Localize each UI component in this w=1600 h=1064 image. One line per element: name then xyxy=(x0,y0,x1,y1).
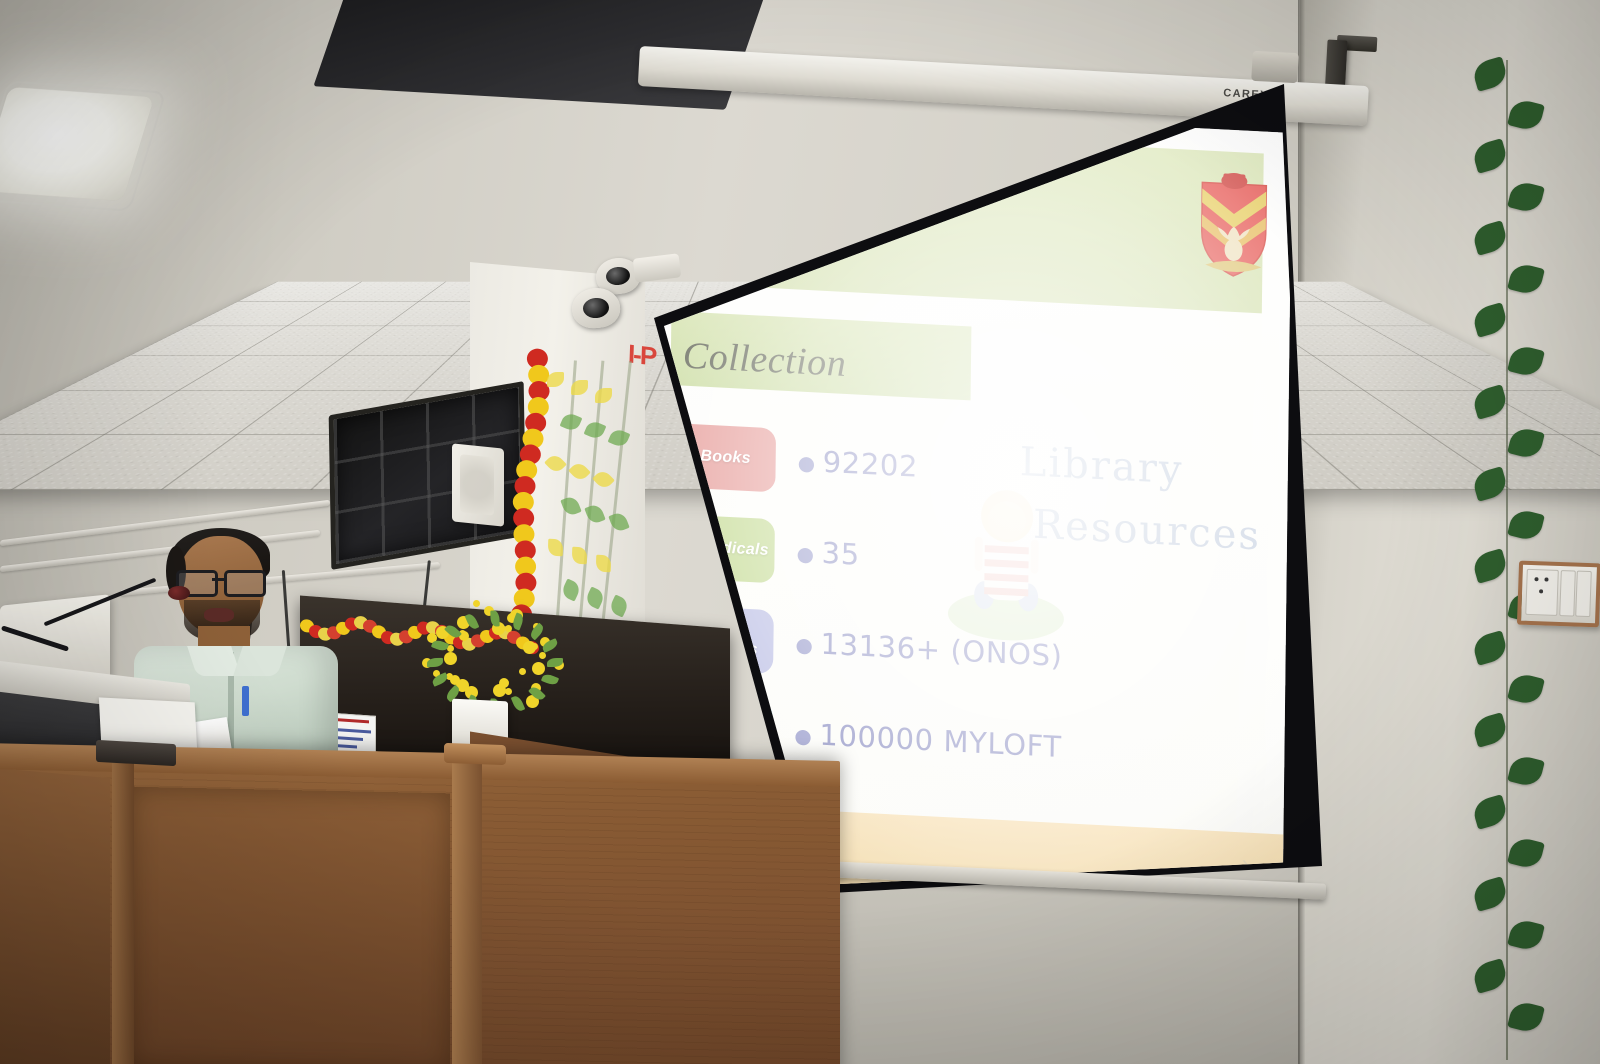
plant-leaf xyxy=(490,610,499,626)
shirt-collar-left xyxy=(187,646,241,676)
vine-leaf xyxy=(1507,180,1545,215)
vine-leaf xyxy=(1471,876,1509,912)
row-books: Books●92202 xyxy=(675,419,1276,530)
screen-brand-label: CAREY xyxy=(1223,87,1269,101)
bullet-icon: ● xyxy=(795,632,813,657)
shirt-collar-right xyxy=(233,646,287,676)
wall-speaker xyxy=(452,443,504,526)
plant-flower xyxy=(447,645,454,652)
bullet-icon: ● xyxy=(796,541,814,566)
presentation-room-photo: I-P CAREY xyxy=(0,0,1600,1064)
vine-leaf xyxy=(1471,630,1509,666)
wooden-railing-inset xyxy=(130,787,450,1064)
vine-leaf xyxy=(1507,754,1545,789)
vine-leaf xyxy=(1471,466,1509,502)
vine-leaf xyxy=(1471,220,1509,256)
vine-leaf xyxy=(1471,384,1509,420)
light-switch[interactable] xyxy=(1559,570,1576,616)
wooden-post-cap xyxy=(444,743,506,765)
pocket-pen xyxy=(242,686,249,716)
plant-flower xyxy=(519,668,526,675)
vine-leaf xyxy=(1507,262,1545,297)
vine-leaf xyxy=(1471,794,1509,830)
collection-value: ●92202 xyxy=(797,444,918,484)
plant-leaf xyxy=(511,694,526,712)
speaker-grille xyxy=(460,454,494,516)
wooden-post-cap-dark xyxy=(96,740,176,766)
vine-leaf xyxy=(1507,426,1545,461)
camera-lens xyxy=(582,297,610,320)
presenter-mouth xyxy=(204,608,234,622)
plant-flower xyxy=(539,652,546,659)
glasses-bridge xyxy=(212,578,226,581)
vine-leaf xyxy=(1507,508,1545,543)
artificial-leaf-vine xyxy=(1452,60,1562,1060)
potted-yellow-flowers xyxy=(415,600,565,715)
university-crest-icon xyxy=(1195,168,1272,282)
vine-leaf xyxy=(1471,138,1509,174)
vine-leaf xyxy=(1471,548,1509,584)
bullet-icon: ● xyxy=(794,723,812,748)
socket-hole xyxy=(1539,589,1543,593)
vine-leaf xyxy=(1507,672,1545,707)
collection-value: ●100000 MYLOFT xyxy=(794,716,1062,764)
vine-leaf xyxy=(1507,836,1545,871)
socket-hole xyxy=(1534,577,1538,581)
vine-leaf xyxy=(1471,56,1509,92)
page-title: Collection xyxy=(683,334,847,386)
glasses-lens-right xyxy=(224,570,266,597)
electrical-switchboard[interactable] xyxy=(1517,561,1600,628)
plant-flower xyxy=(531,643,538,650)
vine-leaf xyxy=(1507,918,1545,953)
wooden-railing-post xyxy=(112,756,134,1064)
lower-wall-band xyxy=(760,880,1360,1064)
plant-leaf xyxy=(427,658,443,667)
collection-value: ●35 xyxy=(796,534,860,571)
vine-leaf xyxy=(1507,1000,1545,1035)
plant-leaf xyxy=(430,639,448,653)
vine-leaf xyxy=(1507,98,1545,133)
camera-lens xyxy=(605,265,631,286)
wooden-railing-left-panel xyxy=(0,766,110,1064)
plant-flower xyxy=(444,652,457,665)
wall-letter-sign: I-P xyxy=(627,338,655,372)
plant-flower xyxy=(493,684,506,697)
plant-flower xyxy=(532,662,545,675)
vine-stem xyxy=(1506,60,1508,1060)
plant-leaf xyxy=(541,672,559,686)
wooden-railing-post xyxy=(452,751,482,1064)
plant-leaf xyxy=(465,613,480,631)
bullet-icon: ● xyxy=(798,451,816,476)
eyeglasses-icon xyxy=(176,570,268,592)
microphone-icon xyxy=(168,586,190,600)
plant-flower xyxy=(505,688,512,695)
vine-leaf xyxy=(1471,958,1509,994)
vine-leaf xyxy=(1471,302,1509,338)
vine-leaf xyxy=(1507,344,1545,379)
plant-flower xyxy=(473,600,480,607)
collection-value: ●13136+ (ONOS) xyxy=(795,625,1062,673)
row-periodicals: Periodicals●35 xyxy=(674,510,1275,621)
light-switch[interactable] xyxy=(1575,571,1592,617)
plant-flower xyxy=(505,625,512,632)
screen-roller xyxy=(1251,51,1299,83)
vine-leaf xyxy=(1471,712,1509,748)
